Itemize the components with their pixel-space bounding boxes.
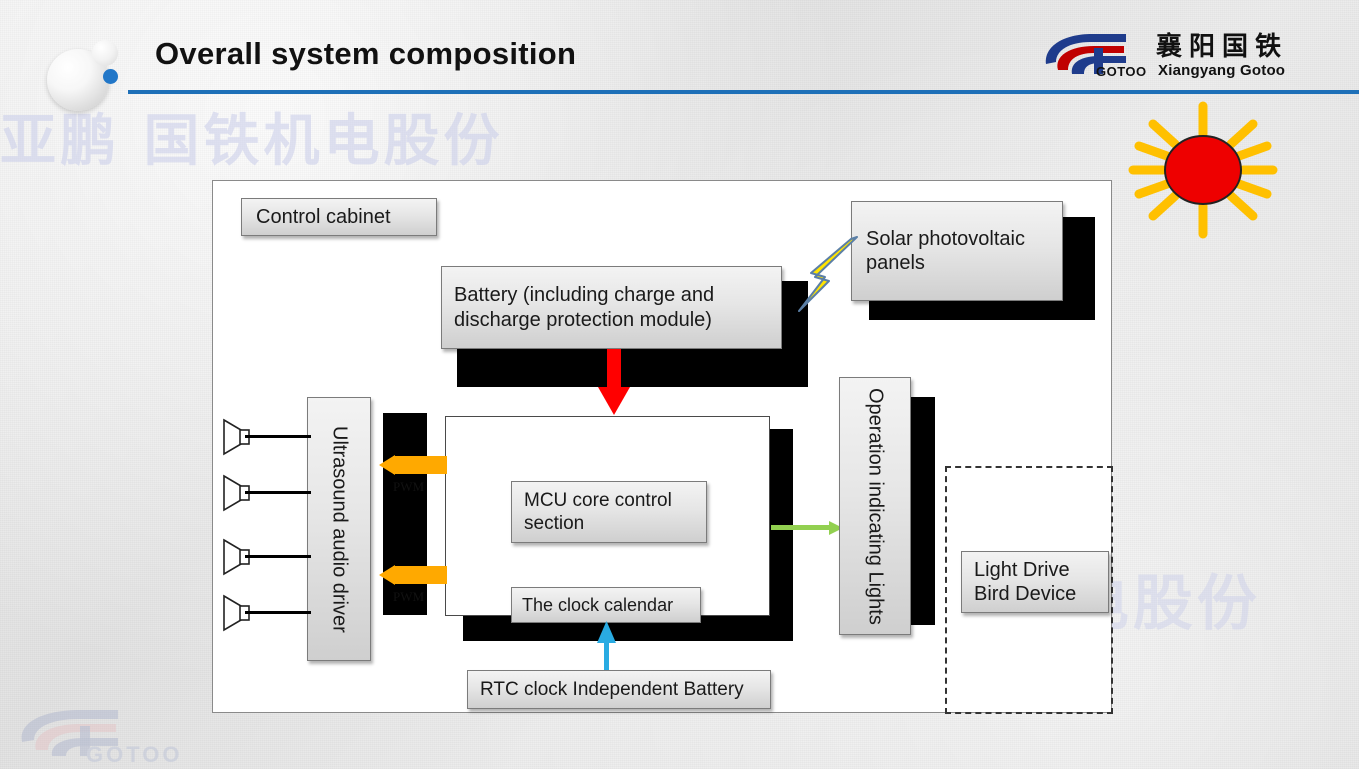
box-mcu-core[interactable]: MCU core control section — [511, 481, 707, 543]
brand-logo: GOTOO 襄阳国铁 Xiangyang Gotoo — [1038, 26, 1338, 84]
pwm-arrow-bottom-icon — [379, 563, 447, 587]
footer-logo: GOTOO — [14, 706, 214, 762]
box-clock-calendar-label: The clock calendar — [522, 595, 673, 616]
pwm-arrow-top-icon — [379, 453, 447, 477]
box-solar-panels[interactable]: Solar photovoltaic panels — [851, 201, 1063, 301]
decorative-blue-dot-icon — [103, 69, 118, 84]
arrow-battery-to-mcu-icon — [597, 349, 631, 417]
box-mcu-core-label: MCU core control section — [524, 489, 694, 535]
sun-icon — [1123, 100, 1283, 240]
box-battery-label: Battery (including charge and discharge … — [454, 283, 769, 332]
box-battery[interactable]: Battery (including charge and discharge … — [441, 266, 782, 349]
pwm-label-bottom: PWM — [393, 589, 424, 605]
footer-gotoo-text: GOTOO — [86, 742, 183, 768]
page-title: Overall system composition — [155, 36, 576, 72]
brand-english-text: Xiangyang Gotoo — [1158, 62, 1285, 79]
box-operation-lights-label: Operation indicating Lights — [865, 388, 886, 625]
arrow-mcu-to-lights-icon — [771, 518, 845, 538]
decorative-sphere-small-icon — [92, 40, 118, 66]
box-operation-lights[interactable]: Operation indicating Lights — [839, 377, 911, 635]
box-rtc-battery[interactable]: RTC clock Independent Battery — [467, 670, 771, 709]
arrow-rtc-to-clock-icon — [595, 621, 619, 673]
box-clock-calendar[interactable]: The clock calendar — [511, 587, 701, 623]
speaker-wire-1 — [245, 435, 311, 438]
box-control-cabinet-label: Control cabinet — [256, 206, 391, 229]
box-ultrasound-driver-label: Ultrasound audio driver — [329, 426, 350, 633]
lightning-bolt-icon — [785, 233, 863, 315]
speaker-wire-4 — [245, 611, 311, 614]
speaker-wire-3 — [245, 555, 311, 558]
box-rtc-battery-label: RTC clock Independent Battery — [480, 679, 744, 701]
box-solar-panels-label: Solar photovoltaic panels — [866, 227, 1048, 276]
brand-chinese-text: 襄阳国铁 — [1156, 26, 1288, 63]
box-light-drive-bird-device-label: Light Drive Bird Device — [974, 558, 1096, 607]
title-underline — [128, 90, 1359, 94]
box-control-cabinet[interactable]: Control cabinet — [241, 198, 437, 236]
system-diagram-panel: Control cabinet Battery (including charg… — [212, 180, 1112, 713]
speaker-wire-2 — [245, 491, 311, 494]
box-light-drive-bird-device[interactable]: Light Drive Bird Device — [961, 551, 1109, 613]
box-ultrasound-driver[interactable]: Ultrasound audio driver — [307, 397, 371, 661]
pwm-label-top: PWM — [393, 479, 424, 495]
brand-gotoo-text: GOTOO — [1096, 64, 1147, 79]
